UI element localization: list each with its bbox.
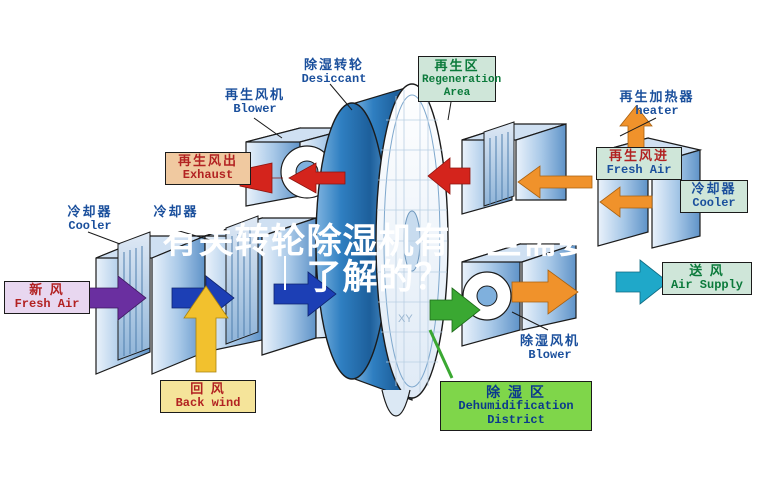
label-cooler-right: 冷却器 Cooler xyxy=(680,180,748,213)
label-fresh-air-left-en: Fresh Air xyxy=(8,298,86,312)
label-back-wind: 回 风 Back wind xyxy=(160,380,256,413)
label-cooler-right-cn: 冷却器 xyxy=(684,182,744,197)
label-regeneration-heater-cn: 再生加热器 xyxy=(607,90,707,105)
label-dehumidification-district-en: Dehumidification District xyxy=(444,400,588,428)
label-regeneration-blower: 再生风机 Blower xyxy=(213,88,297,117)
label-regeneration-blower-en: Blower xyxy=(213,103,297,117)
label-regeneration-heater-en: heater xyxy=(607,105,707,119)
svg-text:XY: XY xyxy=(398,313,413,325)
watermark-line-2: 了解的？ xyxy=(0,258,757,298)
label-regeneration-area: 再生区 Regeneration Area xyxy=(418,56,496,102)
label-dehumidify-blower: 除湿风机 Blower xyxy=(508,334,592,363)
label-dehumidify-blower-en: Blower xyxy=(508,349,592,363)
label-fresh-air-in-en: Fresh Air xyxy=(600,164,678,178)
label-regeneration-blower-cn: 再生风机 xyxy=(213,88,297,103)
text-caret xyxy=(284,256,286,290)
label-regeneration-heater: 再生加热器 heater xyxy=(607,90,707,119)
dehumidifier-schematic: XY xyxy=(0,0,757,488)
label-cooler-left-2: 冷却器 xyxy=(146,205,206,220)
label-dehumidification-district: 除 湿 区 Dehumidification District xyxy=(440,381,592,431)
label-back-wind-en: Back wind xyxy=(164,397,252,411)
label-desiccant-rotor-en: Desiccant xyxy=(288,73,380,87)
label-desiccant-rotor-cn: 除湿转轮 xyxy=(288,58,380,73)
label-regeneration-area-cn: 再生区 xyxy=(422,59,492,74)
label-fresh-air-in-cn: 再生风进 xyxy=(600,149,678,164)
label-dehumidify-blower-cn: 除湿风机 xyxy=(508,334,592,349)
label-desiccant-rotor: 除湿转轮 Desiccant xyxy=(288,58,380,87)
label-cooler-left-1-cn: 冷却器 xyxy=(56,205,124,220)
label-cooler-right-en: Cooler xyxy=(684,197,744,211)
watermark-line-1: 有关转轮除湿机有哪些需要 xyxy=(0,222,757,262)
label-regeneration-exhaust-en: Exhaust xyxy=(169,169,247,183)
label-dehumidification-district-cn: 除 湿 区 xyxy=(444,384,588,400)
label-fresh-air-in: 再生风进 Fresh Air xyxy=(596,147,682,180)
label-cooler-left-2-cn: 冷却器 xyxy=(146,205,206,220)
label-regeneration-exhaust: 再生风出 Exhaust xyxy=(165,152,251,185)
label-back-wind-cn: 回 风 xyxy=(164,382,252,397)
label-regeneration-exhaust-cn: 再生风出 xyxy=(169,154,247,169)
label-regeneration-area-en: Regeneration Area xyxy=(422,74,492,99)
